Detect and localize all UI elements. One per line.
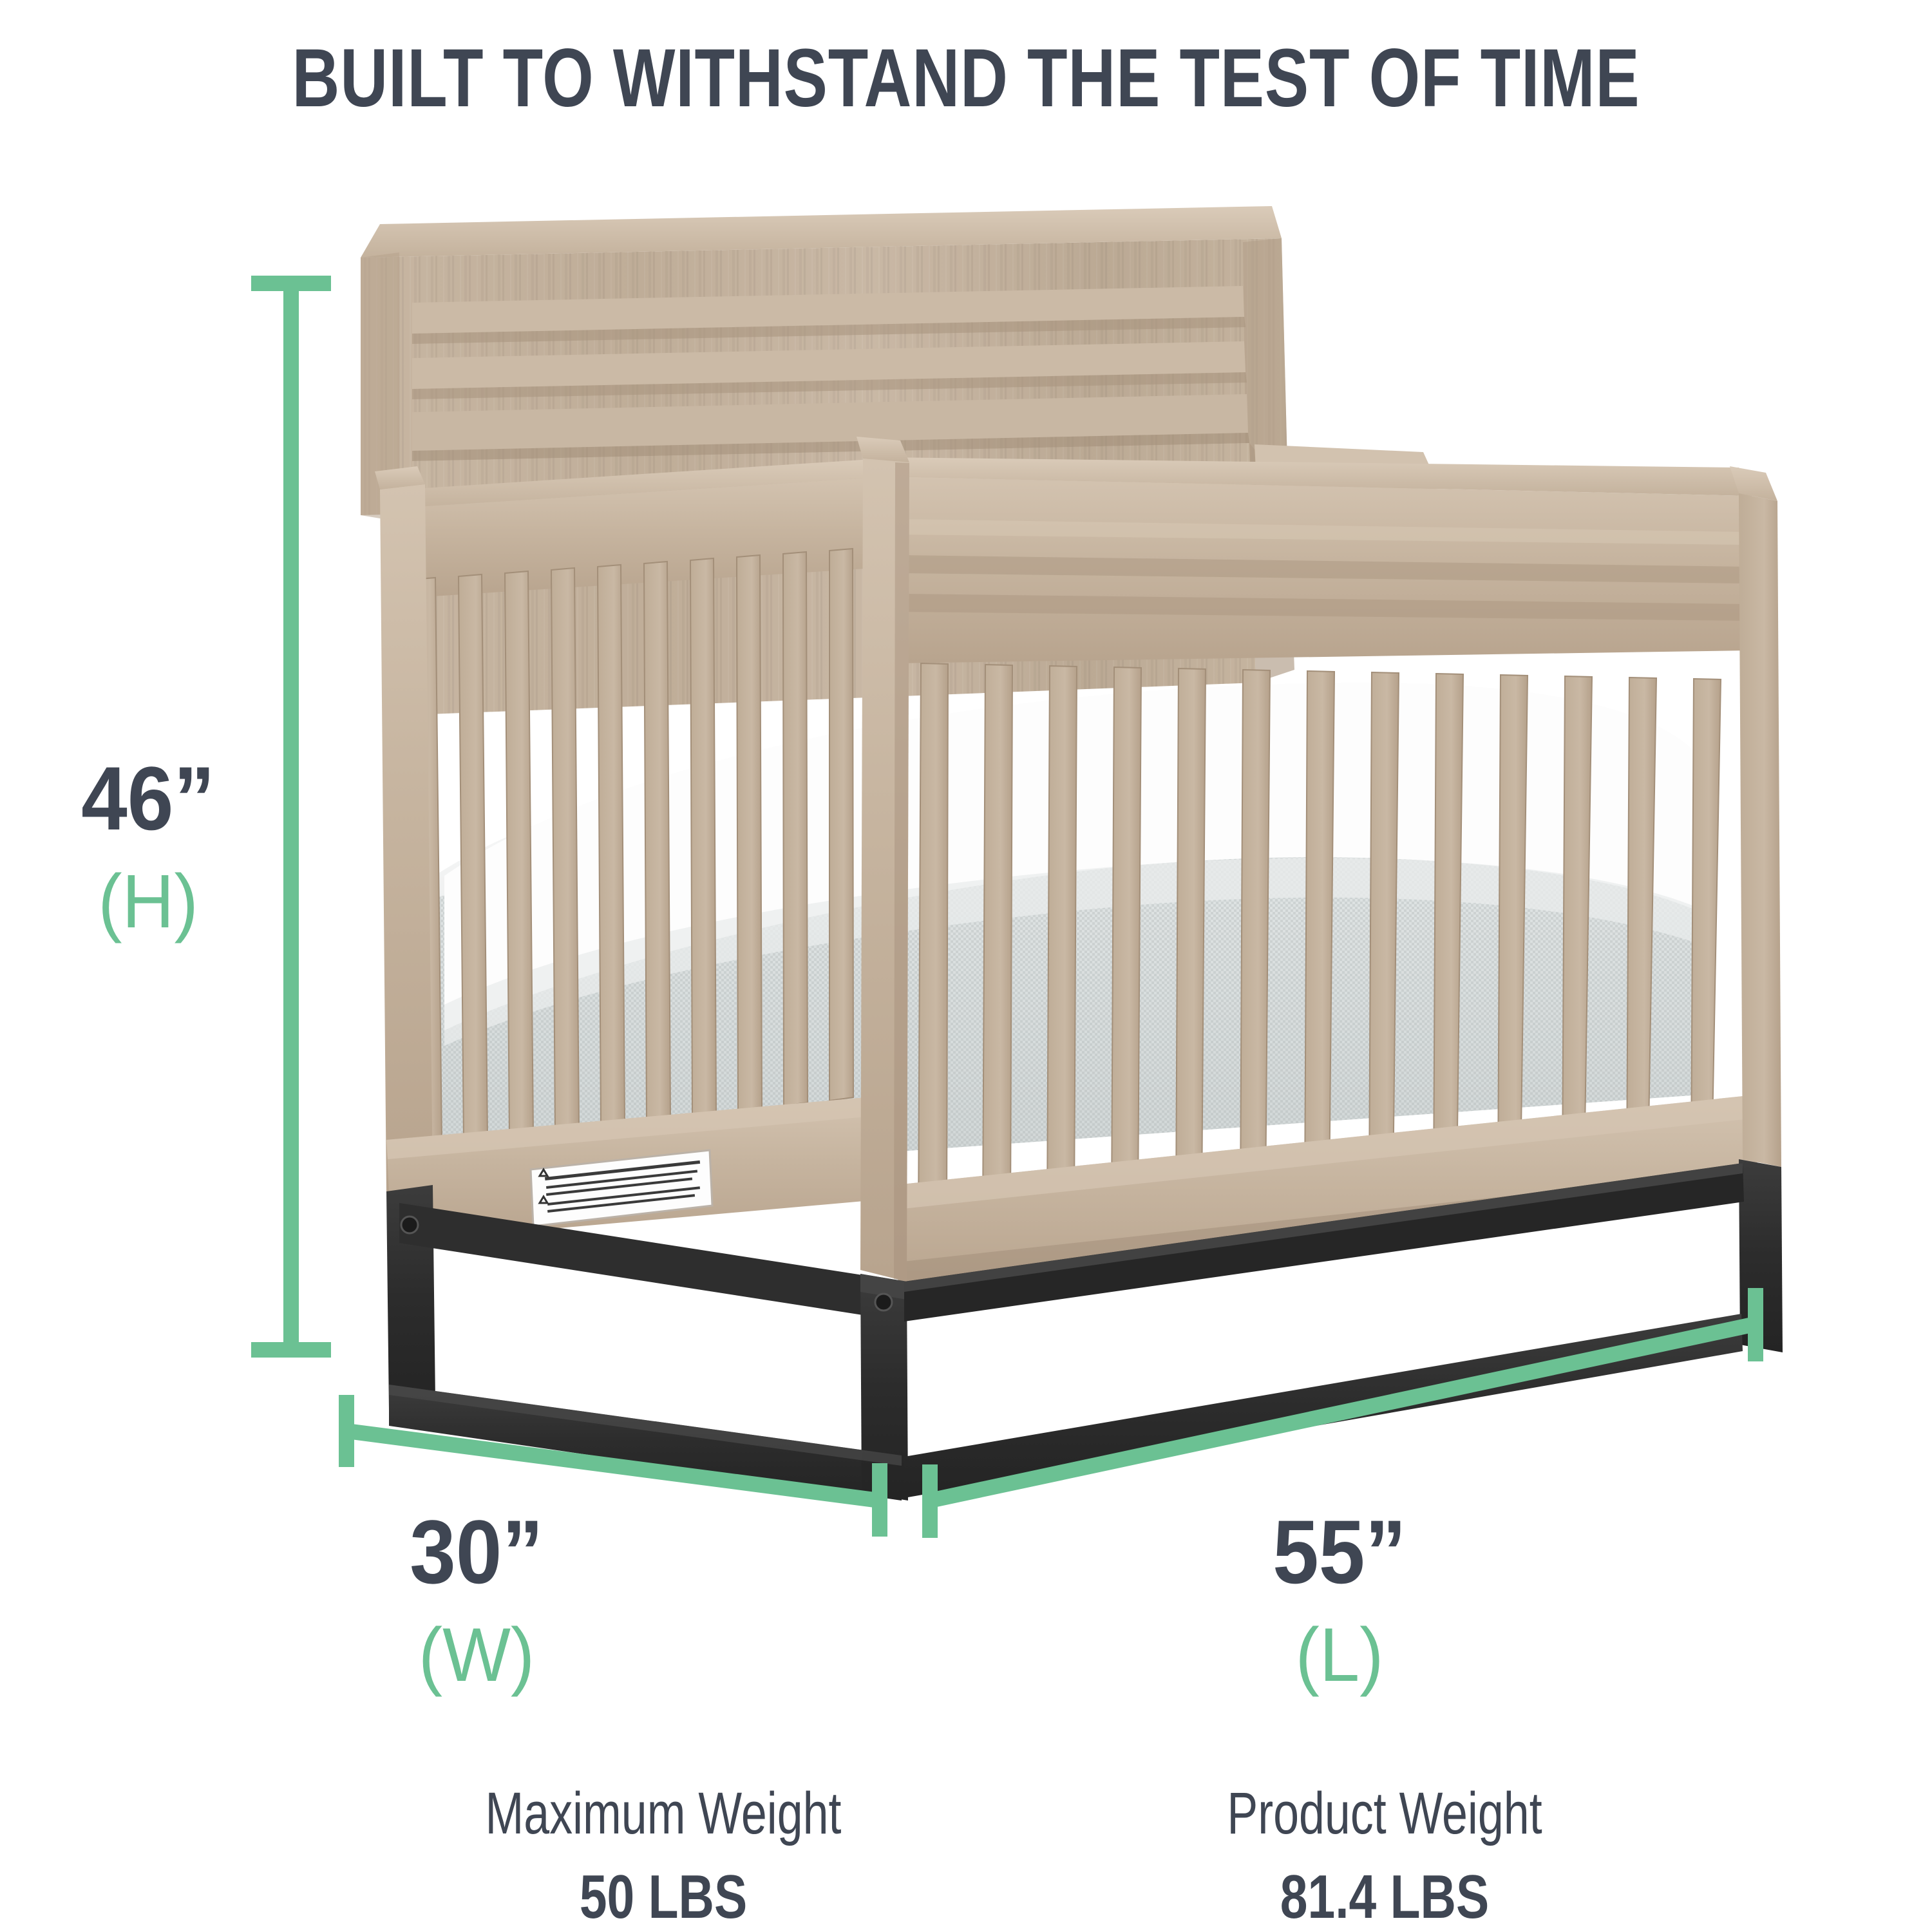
- spec-label-product-weight: Product Weight: [1139, 1784, 1631, 1843]
- dimension-line-height: [251, 283, 331, 1350]
- spec-value-maximum-weight: 50 LBS: [411, 1866, 916, 1928]
- dimension-label-width: 30” (W): [341, 1507, 612, 1698]
- product-illustration: [0, 0, 1932, 1932]
- dimension-value-height: 46”: [48, 753, 249, 844]
- crib-front-rail: [857, 437, 1781, 1294]
- infographic-canvas: BUILT TO WITHSTAND THE TEST OF TIME: [0, 0, 1932, 1932]
- dimension-value-length: 55”: [1215, 1507, 1464, 1597]
- spec-value-product-weight: 81.4 LBS: [1132, 1866, 1637, 1928]
- dimension-label-length: 55” (L): [1204, 1507, 1475, 1698]
- dimension-value-width: 30”: [352, 1507, 601, 1597]
- dimension-label-height: 46” (H): [39, 753, 258, 944]
- dimension-unit-height: (H): [44, 860, 252, 944]
- spec-label-maximum-weight: Maximum Weight: [417, 1784, 909, 1843]
- spec-product-weight: Product Weight 81.4 LBS: [1069, 1784, 1700, 1928]
- dimension-unit-length: (L): [1211, 1614, 1468, 1698]
- dimension-line-length: [930, 1288, 1756, 1538]
- dimension-unit-width: (W): [348, 1614, 605, 1698]
- spec-maximum-weight: Maximum Weight 50 LBS: [348, 1784, 979, 1928]
